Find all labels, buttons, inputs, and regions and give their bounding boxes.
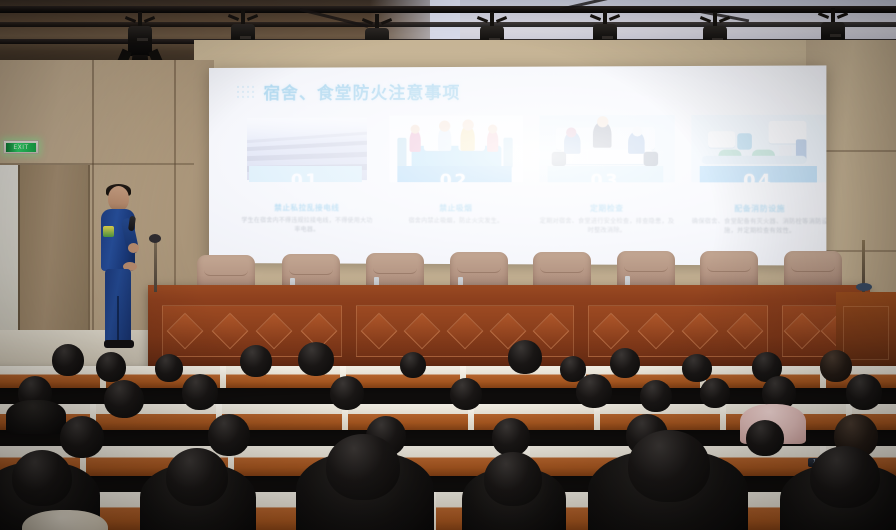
floor-microphone-stand [154,240,157,292]
audience-head [326,434,400,500]
card-number-badge: 03 [548,166,664,182]
card-visual: 01 [241,116,373,182]
audience-head [576,374,612,408]
exit-sign: EXIT [3,140,39,154]
card-body-text: 学生在宿舍内不得违规拉接电线，不得使用大功率电器。 [241,217,373,234]
floor-microphone-head-icon [149,234,161,243]
card-visual: 02 [389,115,523,182]
card-number-badge: 02 [397,166,511,182]
audience-head [104,380,144,418]
audience-head [508,340,542,374]
audience-head [96,352,126,382]
card-number-badge: 04 [700,166,817,182]
slide-card: 02 禁止吸烟 宿舍内禁止吸烟，防止火灾发生。 [389,115,523,235]
uniform-shoulder-patch-icon [103,226,114,237]
card-visual: 04 [691,115,826,183]
card-body-text: 宿舍内禁止吸烟，防止火灾发生。 [389,217,523,226]
audience-head [450,378,482,410]
audience-head [746,420,784,456]
slide: 宿舍、食堂防火注意事项 01 禁止私拉乱接 [209,65,826,265]
audience-head [182,374,218,410]
audience-shoulders [6,400,66,434]
audience-head [492,418,530,456]
exit-sign-label: EXIT [6,143,36,152]
audience-head [682,354,712,382]
slide-cards: 01 禁止私拉乱接电线 学生在宿舍内不得违规拉接电线，不得使用大功率电器。 [241,115,795,236]
dais-tabletop [148,285,870,296]
card-body-text: 确保宿舍、食堂配备有灭火器、消防栓等消防设施，并定期检查有效性。 [691,218,826,236]
slide-card: 04 配备消防设施 确保宿舍、食堂配备有灭火器、消防栓等消防设施，并定期检查有效… [691,115,826,236]
audience-head [298,342,334,376]
audience-head [400,352,426,378]
audience-head [846,374,882,410]
card-heading: 配备消防设施 [691,203,826,215]
presenter-head [108,186,129,211]
card-body-text: 定期对宿舍、食堂进行安全检查，排查隐患，及时整改消除。 [539,218,674,236]
audience-head [610,348,640,378]
audience-head [12,450,72,506]
audience-head [330,376,364,410]
wall-seam [92,60,94,360]
card-heading: 禁止私拉乱接电线 [241,202,373,213]
slide-card: 03 定期检查 定期对宿舍、食堂进行安全检查，排查隐患，及时整改消除。 [539,115,674,235]
card-heading: 定期检查 [539,203,674,214]
audience-head [240,345,272,377]
audience-head [155,354,183,382]
projection-screen: 宿舍、食堂防火注意事项 01 禁止私拉乱接 [209,65,826,265]
audience-head [700,378,730,408]
dot-grid-icon [237,86,254,98]
slide-title: 宿舍、食堂防火注意事项 [263,79,460,104]
audience-head [820,350,852,382]
presenter-speaker [96,186,142,348]
audience-head [810,446,880,508]
card-number-badge: 01 [249,166,362,182]
seat-row[interactable] [0,492,896,530]
audience-head [166,448,228,506]
slide-title-row: 宿舍、食堂防火注意事项 [237,78,812,104]
card-heading: 禁止吸烟 [389,202,523,213]
side-microphone-head-icon [856,283,872,291]
audience-head [484,452,542,506]
slide-card: 01 禁止私拉乱接电线 学生在宿舍内不得违规拉接电线，不得使用大功率电器。 [241,116,373,235]
auditorium-scene: EXIT 宿舍、食堂防火注意事项 [0,0,896,530]
audience-head [208,414,250,456]
card-visual: 03 [539,115,674,182]
audience-head [60,416,104,458]
audience-head [640,380,672,412]
presenter-hand [128,243,139,253]
audience-head [52,344,84,376]
lighting-truss-front [0,6,896,13]
audience-area: 03 12 [0,330,896,530]
audience-head [628,430,710,502]
